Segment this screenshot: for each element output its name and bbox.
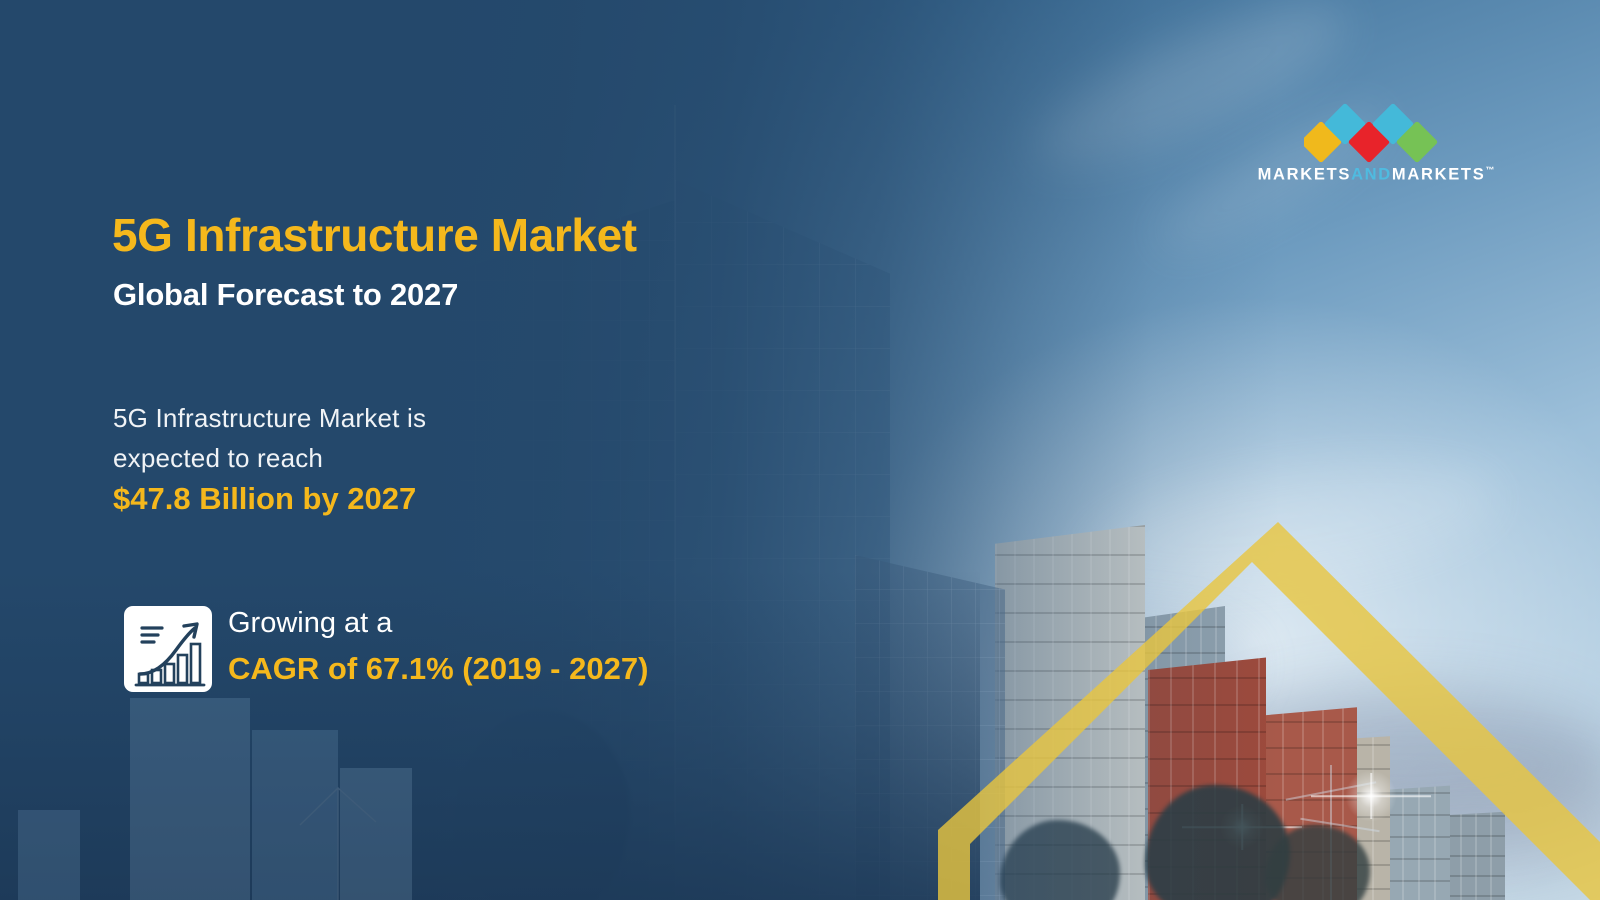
market-report-banner: 5G Infrastructure Market Global Forecast… bbox=[0, 0, 1600, 900]
page-title: 5G Infrastructure Market bbox=[112, 208, 637, 262]
body-text-line-2: expected to reach bbox=[113, 443, 323, 474]
marketsandmarkets-logo[interactable]: MARKETSANDMARKETS™ bbox=[1252, 103, 1500, 191]
page-subtitle: Global Forecast to 2027 bbox=[113, 277, 458, 313]
chevron-graphic bbox=[930, 500, 1600, 900]
market-value-statement: $47.8 Billion by 2027 bbox=[113, 481, 416, 517]
logo-word-markets-2: MARKETS bbox=[1392, 166, 1485, 184]
logo-word-markets-1: MARKETS bbox=[1258, 166, 1351, 184]
growth-chart-icon bbox=[124, 606, 212, 692]
logo-wordmark: MARKETSANDMARKETS™ bbox=[1252, 165, 1500, 185]
logo-word-and: AND bbox=[1351, 166, 1392, 184]
body-text-line-1: 5G Infrastructure Market is bbox=[113, 403, 426, 434]
cagr-intro-text: Growing at a bbox=[228, 607, 392, 640]
logo-diamonds bbox=[1304, 103, 1452, 165]
cagr-value-statement: CAGR of 67.1% (2019 - 2027) bbox=[228, 651, 648, 687]
distant-skyline bbox=[0, 670, 470, 900]
trademark-symbol: ™ bbox=[1485, 165, 1494, 175]
